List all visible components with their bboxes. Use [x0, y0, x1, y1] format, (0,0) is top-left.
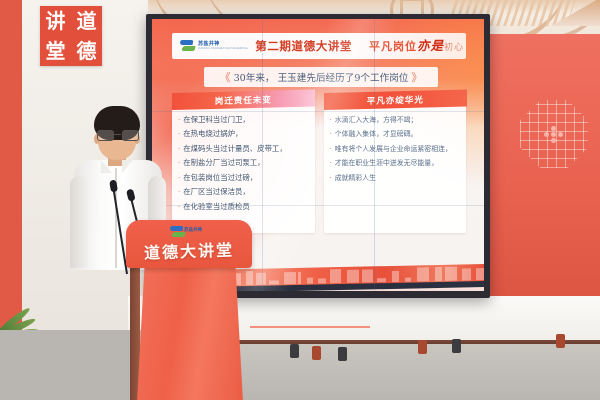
bullet-dot-icon: · [330, 116, 332, 125]
headline-emphasis: 亦是 [417, 38, 444, 53]
flower-dot [544, 132, 549, 137]
bullet-dot-icon: · [178, 130, 180, 139]
city-building [330, 269, 341, 283]
seal-glyph: 讲 [46, 11, 66, 31]
logo-org-pinyin: JIANGSU JINGSHEN SALT&CHEMICAL [198, 47, 248, 50]
subtitle-part-one: 30年来， [234, 70, 275, 84]
bullet-item: ·在保卫科当过门卫， [178, 116, 310, 125]
screen-panel-seam [262, 19, 263, 291]
panel-left: 岗迁责任未变 ·在保卫科当过门卫，·在热电烧过锅炉，·在煤码头当过计量员、皮带工… [172, 93, 315, 233]
city-building [445, 267, 457, 281]
bullet-text: 在煤码头当过计量员、皮带工， [183, 145, 286, 154]
seal-glyph: 堂 [46, 41, 66, 61]
bullet-text: 水滴汇入大海，方得不竭； [335, 116, 418, 124]
city-building [362, 269, 373, 282]
bullet-item: ·在煤码头当过计量员、皮带工， [178, 145, 310, 154]
collar-flap [122, 160, 133, 173]
podium-front-panel: 苏盐井神 道德大讲堂 [126, 220, 252, 268]
caster-wheel [418, 340, 427, 354]
panel-right: 平凡亦绽华光 ·水滴汇入大海，方得不竭；·个体融入集体，才显磅礴。·唯有将个人发… [324, 93, 467, 233]
flower-dot [551, 126, 556, 131]
caster-wheel [290, 344, 299, 358]
slide-headline: 平凡岗位亦是初心 [369, 35, 464, 54]
collar-flap [101, 160, 112, 173]
bullet-text: 在制盐分厂当过司泵工， [183, 159, 264, 168]
quote-close-icon: 》 [411, 69, 422, 85]
caster-wheel [312, 346, 321, 360]
city-building [405, 278, 411, 282]
panel-left-heading: 岗迁责任未变 [172, 90, 315, 110]
seal-glyph: 道 [77, 11, 97, 31]
company-logo-icon: 苏盐井神 JIANGSU JINGSHEN SALT&CHEMICAL [180, 39, 248, 53]
bullet-item: ·在包装岗位当过过磅， [178, 174, 310, 183]
city-building [298, 272, 301, 284]
podium-body [136, 264, 244, 400]
bullet-dot-icon: · [178, 145, 180, 154]
bullet-dot-icon: · [330, 159, 332, 168]
lattice-flower-decor [544, 126, 564, 144]
slide-panels: 岗迁责任未变 ·在保卫科当过门卫，·在热电烧过锅炉，·在煤码头当过计量员、皮带工… [172, 93, 466, 233]
screen-panel-seam-h [152, 205, 484, 206]
city-building [462, 268, 471, 280]
caster-wheel [338, 347, 347, 361]
bullet-text: 在包装岗位当过过磅， [183, 174, 257, 183]
city-building [392, 271, 399, 282]
podium-org-name: 苏盐井神 [184, 228, 202, 233]
bullet-text: 个体融入集体，才显磅礴。 [335, 130, 418, 138]
flower-dot [551, 132, 556, 137]
bullet-text: 在热电烧过锅炉， [183, 130, 242, 139]
panel-right-body: ·水滴汇入大海，方得不竭；·个体融入集体，才显磅礴。·唯有将个人发展与企业命运紧… [324, 110, 467, 192]
flower-dot [558, 132, 563, 137]
bullet-text: 成就精彩人生 [335, 174, 376, 182]
bullet-item: ·在热电烧过锅炉， [178, 130, 310, 139]
bullet-dot-icon: · [178, 174, 180, 183]
cloud-decor [285, 308, 355, 328]
bullet-item: ·个体融入集体，才显磅礴。 [330, 130, 462, 139]
screen-panel-seam [374, 19, 375, 291]
logo-mark-icon [180, 39, 195, 53]
quote-open-icon: 《 [220, 69, 231, 85]
city-building [307, 278, 313, 284]
city-building [318, 278, 326, 283]
bullet-dot-icon: · [330, 130, 332, 139]
bullet-item: ·唯有将个人发展与企业命运紧密相连， [330, 145, 462, 154]
caster-wheel [556, 334, 565, 348]
city-building [347, 270, 359, 283]
eyeglasses-icon [97, 130, 137, 139]
logo-mark-icon [170, 225, 182, 236]
panel-right-heading: 平凡亦绽华光 [324, 90, 467, 110]
bullet-dot-icon: · [178, 116, 180, 125]
seal-stamp-icon: 讲道堂德 [40, 6, 102, 66]
speaker-arm-left [70, 176, 88, 268]
caster-wheel [452, 339, 461, 353]
bullet-dot-icon: · [330, 145, 332, 154]
city-building [256, 273, 266, 285]
bullet-item: ·水滴汇入大海，方得不竭； [330, 116, 462, 125]
city-building [284, 272, 296, 284]
podium: 苏盐井神 道德大讲堂 [126, 220, 252, 400]
city-building [269, 280, 279, 284]
flower-dot [551, 138, 556, 143]
bullet-text: 唯有将个人发展与企业命运紧密相连， [335, 145, 452, 153]
bullet-item: ·在厂区当过保洁员， [178, 188, 310, 197]
podium-title: 道德大讲堂 [126, 236, 253, 264]
bullet-item: ·成就精彩人生 [330, 174, 462, 183]
program-title: 第二期道德大讲堂 [255, 38, 352, 54]
city-building [417, 267, 429, 281]
bullet-dot-icon: · [178, 188, 180, 197]
left-red-stripe [0, 0, 22, 330]
screen-panel-seam-h [152, 111, 484, 112]
bullet-dot-icon: · [178, 159, 180, 168]
screenshot-root: 讲道堂德 苏盐井神 [0, 0, 600, 400]
headline-prefix: 平凡岗位 [369, 40, 417, 53]
headline-suffix: 初心 [444, 43, 464, 53]
subtitle-part-two: 王玉建先后经历了9个工作岗位 [278, 70, 409, 84]
slide-subtitle: 《 30年来， 王玉建先后经历了9个工作岗位 》 [204, 67, 438, 87]
bullet-text: 才能在职业生涯中迸发无尽能量， [335, 159, 438, 167]
speaker-collar [101, 160, 133, 176]
podium-logo-icon: 苏盐井神 [170, 225, 202, 236]
bullet-item: ·在制盐分厂当过司泵工， [178, 159, 310, 168]
city-building [476, 268, 484, 280]
bullet-dot-icon: · [330, 174, 332, 183]
bullet-text: 在保卫科当过门卫， [183, 116, 250, 125]
bullet-item: ·才能在职业生涯中迸发无尽能量， [330, 159, 462, 168]
bullet-text: 在厂区当过保洁员， [183, 188, 250, 197]
seal-glyph: 德 [77, 41, 97, 61]
city-building [435, 267, 442, 281]
city-building [377, 278, 386, 282]
